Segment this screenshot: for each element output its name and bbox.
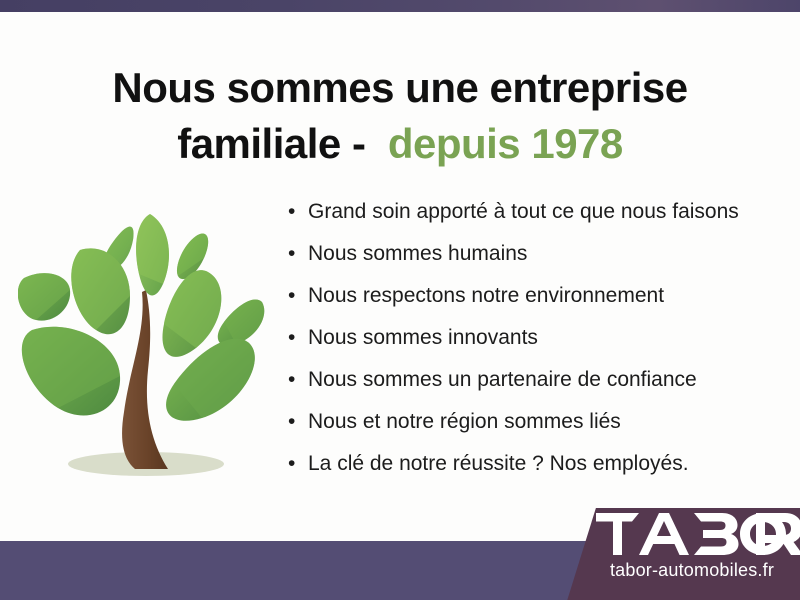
list-item-label: Nous sommes humains [308,242,527,265]
list-item-label: Nous sommes un partenaire de confiance [308,368,697,391]
list-item: • Nous respectons notre environnement [286,275,786,317]
page-title: Nous sommes une entreprise familiale - d… [0,60,800,172]
list-item: • La clé de notre réussite ? Nos employé… [286,443,786,485]
list-item-label: Nous sommes innovants [308,326,538,349]
headline-line-2-prefix: familiale [177,120,341,167]
list-item-label: Grand soin apporté à tout ce que nous fa… [308,200,739,223]
list-item: • Nous et notre région sommes liés [286,401,786,443]
headline-space-2 [365,120,387,167]
slide-canvas: Nous sommes une entreprise familiale - d… [0,0,800,600]
bullet-icon: • [288,401,295,443]
logo-url[interactable]: tabor-automobiles.fr [596,560,788,581]
headline-line-2: familiale - depuis 1978 [0,116,800,172]
bullet-icon: • [288,317,295,359]
bullet-icon: • [288,275,295,317]
list-item-label: La clé de notre réussite ? Nos employés. [308,452,689,475]
bullet-icon: • [288,359,295,401]
list-item: • Nous sommes un partenaire de confiance [286,359,786,401]
list-item-label: Nous respectons notre environnement [308,284,664,307]
list-item-label: Nous et notre région sommes liés [308,410,621,433]
headline-accent-year: depuis 1978 [388,120,623,167]
bullet-icon: • [288,233,295,275]
list-item: • Nous sommes innovants [286,317,786,359]
top-accent-band [0,0,800,12]
tree-trunk [122,290,168,469]
bullet-icon: • [288,191,295,233]
value-list: • Grand soin apporté à tout ce que nous … [286,191,786,485]
headline-line-1: Nous sommes une entreprise [0,60,800,116]
headline-dash: - [352,120,366,167]
list-item: • Grand soin apporté à tout ce que nous … [286,191,786,233]
tabor-logo-letter-r [756,513,800,555]
tree-illustration [18,192,270,492]
list-item: • Nous sommes humains [286,233,786,275]
bullet-icon: • [288,443,295,485]
headline-separator [341,120,352,167]
